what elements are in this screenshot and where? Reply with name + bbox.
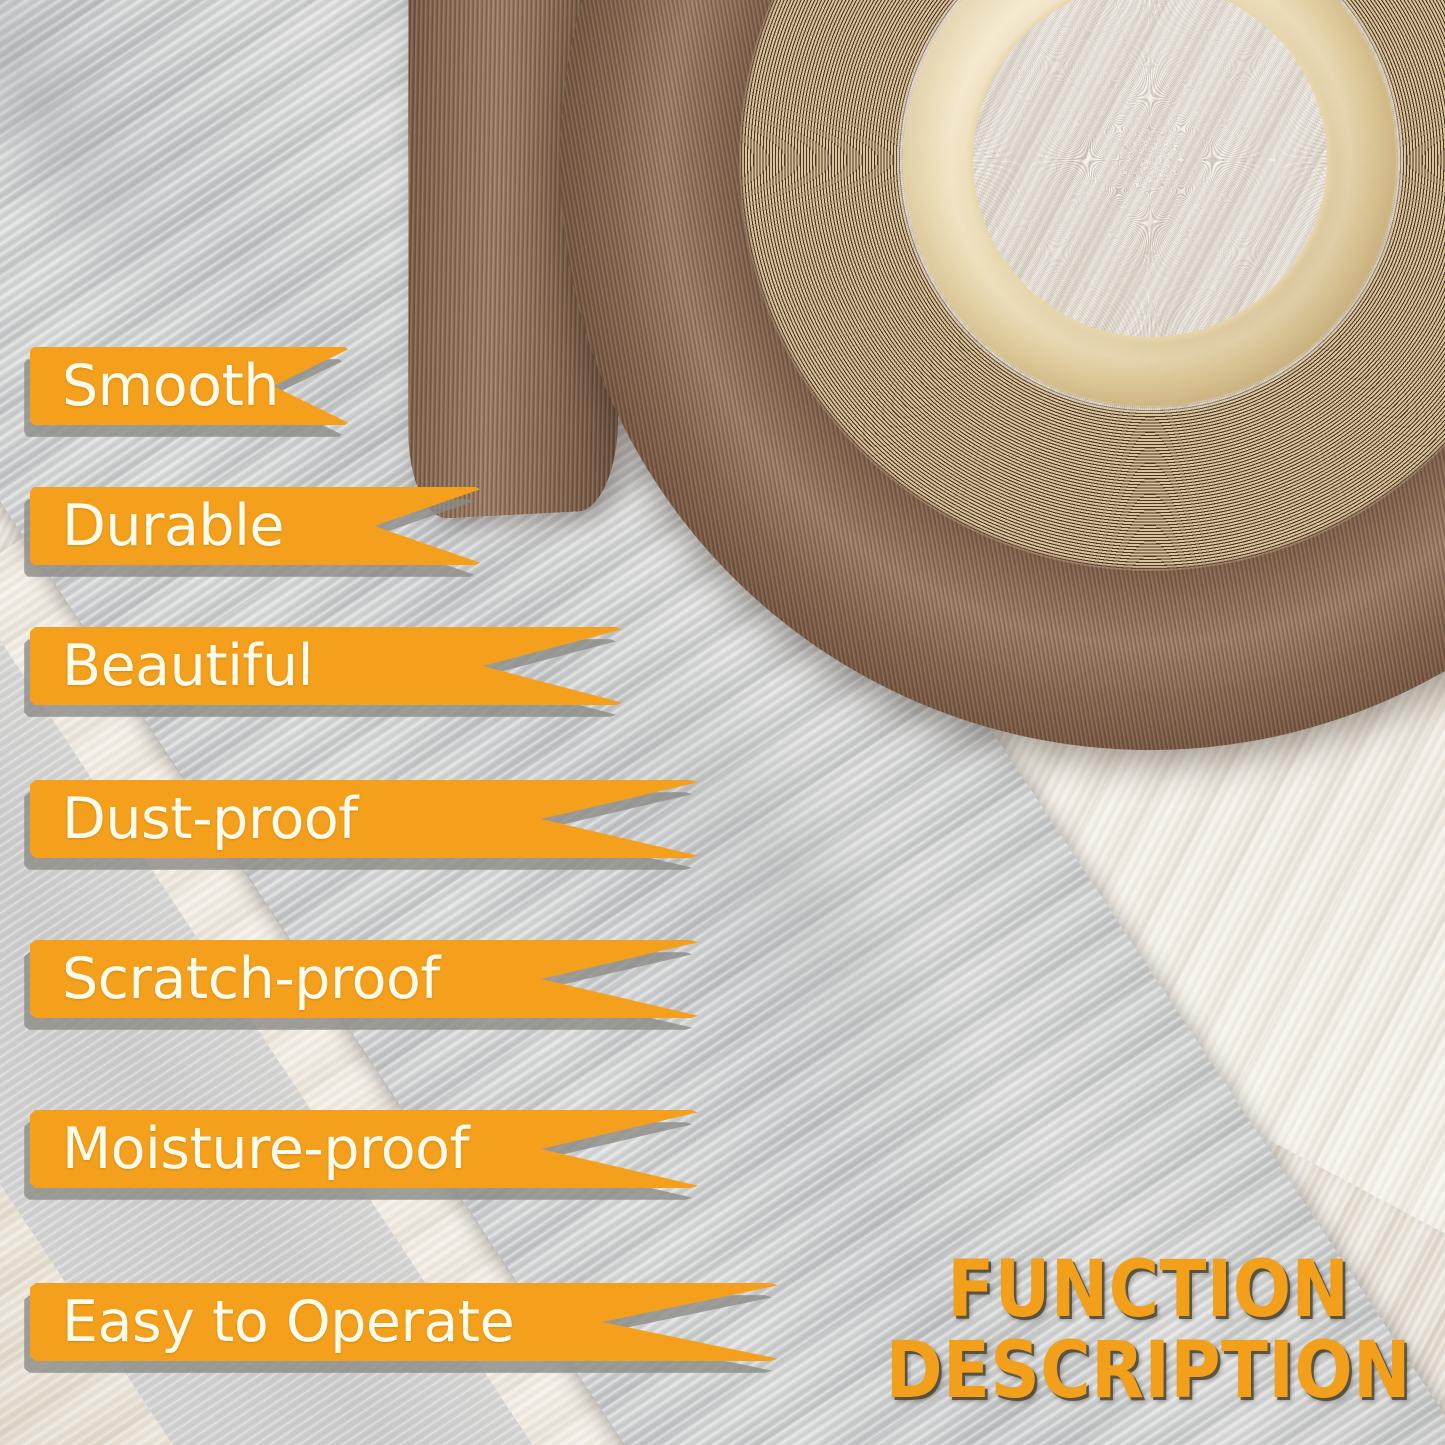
- feature-label: Smooth: [30, 358, 279, 415]
- feature-banner-list: Smooth Durable Beautiful Dust-proof Scra…: [0, 0, 1445, 1445]
- feature-banner-dust-proof: Dust-proof: [30, 780, 698, 858]
- feature-banner-durable: Durable: [30, 487, 480, 565]
- function-description-heading: FUNCTION DESCRIPTION: [886, 1250, 1411, 1411]
- feature-banner-easy-to-operate: Easy to Operate: [30, 1283, 778, 1361]
- feature-label: Durable: [30, 498, 284, 555]
- feature-label: Moisture-proof: [30, 1121, 469, 1178]
- feature-label: Dust-proof: [30, 791, 358, 848]
- heading-line-1: FUNCTION: [886, 1250, 1411, 1330]
- feature-banner-moisture-proof: Moisture-proof: [30, 1110, 698, 1188]
- product-infographic: Smooth Durable Beautiful Dust-proof Scra…: [0, 0, 1445, 1445]
- feature-label: Beautiful: [30, 638, 313, 695]
- heading-line-2: DESCRIPTION: [886, 1331, 1411, 1411]
- feature-label: Easy to Operate: [30, 1294, 514, 1351]
- feature-banner-scratch-proof: Scratch-proof: [30, 940, 698, 1018]
- feature-label: Scratch-proof: [30, 951, 440, 1008]
- feature-banner-smooth: Smooth: [30, 347, 348, 425]
- feature-banner-beautiful: Beautiful: [30, 627, 622, 705]
